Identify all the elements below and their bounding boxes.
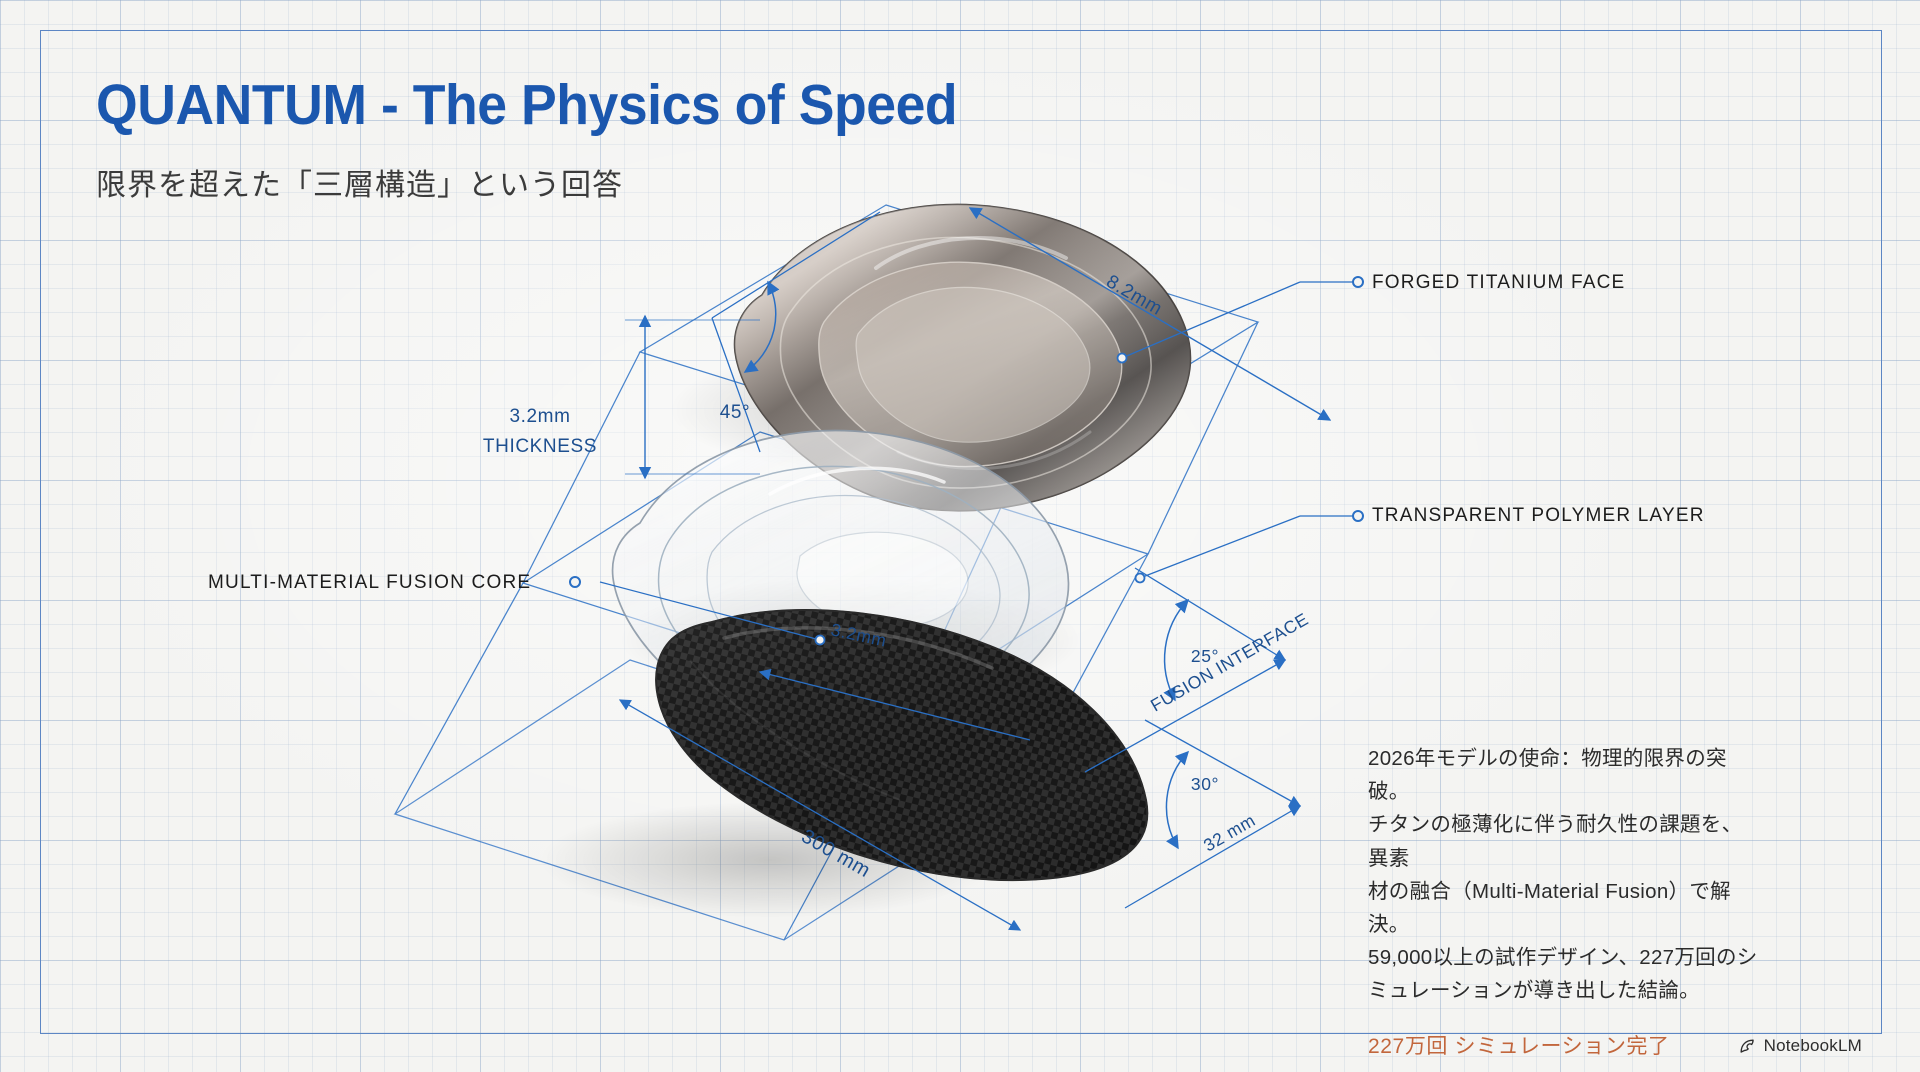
dimension-label-thickness: THICKNESS [483,436,597,457]
notebooklm-icon [1738,1037,1757,1056]
description-line-4: 59,000以上の試作デザイン、227万回のシ [1368,941,1760,974]
page-subtitle: 限界を超えた「三層構造」という回答 [96,160,623,204]
description-line-3: 材の融合（Multi-Material Fusion）で解決。 [1368,875,1760,941]
notebooklm-watermark: NotebookLM [1738,1036,1862,1056]
notebooklm-label: NotebookLM [1764,1036,1862,1056]
description-line-5: ミュレーションが導き出した結論。 [1368,974,1760,1007]
callout-label-multi-material-fusion-core: MULTI-MATERIAL FUSION CORE [208,572,531,594]
dimension-angle-30: 30° 32 mm [1125,720,1300,908]
callout-marker-core [570,577,580,587]
simulation-status-text: 227万回 シミュレーション完了 [1368,1030,1760,1060]
description-line-2: チタンの極薄化に伴う耐久性の課題を、異素 [1368,808,1760,874]
dimension-label-30deg: 30° [1191,774,1219,794]
page-title: QUANTUM - The Physics of Speed [96,76,957,136]
dimension-label-32mm: 32 mm [1200,810,1259,856]
description-line-1: 2026年モデルの使命：物理的限界の突破。 [1368,742,1760,808]
callout-label-transparent-polymer-layer: TRANSPARENT POLYMER LAYER [1372,505,1705,527]
callout-marker-polymer [1353,511,1363,521]
callout-marker-titanium [1353,277,1363,287]
dimension-label-45deg: 45° [720,402,751,423]
callout-label-forged-titanium-face: FORGED TITANIUM FACE [1372,272,1625,294]
description-panel: 2026年モデルの使命：物理的限界の突破。 チタンの極薄化に伴う耐久性の課題を、… [1368,742,1760,1060]
dimension-label-3-2mm: 3.2mm [509,406,570,427]
